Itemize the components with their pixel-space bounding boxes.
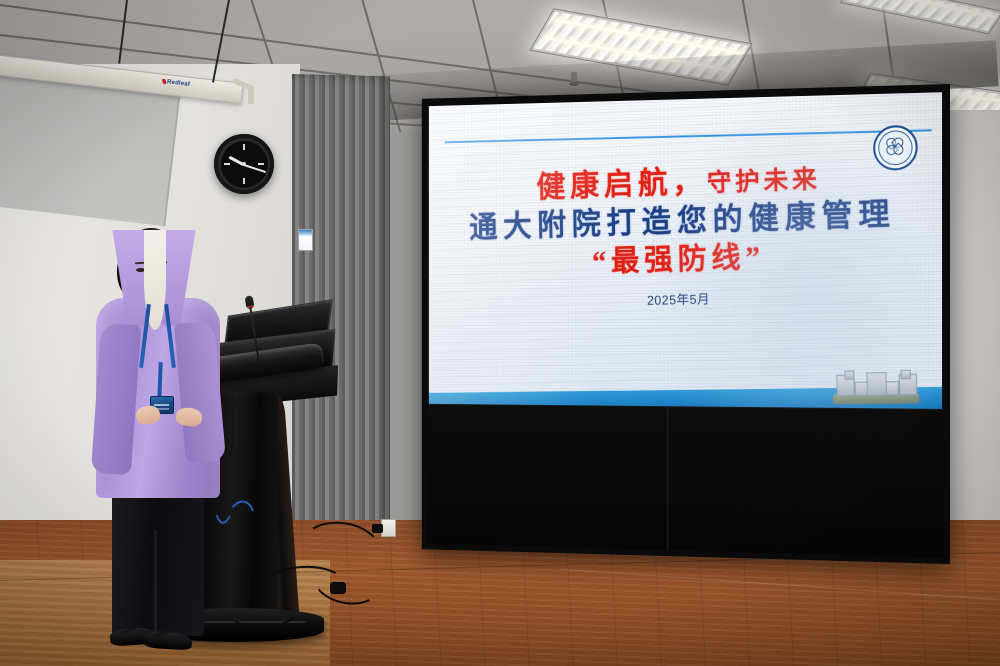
slide-text-block: 健康启航，守护未来 通大附院打造您的健康管理 “最强防线” 2025年5月 [429, 154, 942, 314]
clock-center-pin [242, 162, 246, 166]
led-video-wall[interactable]: 健康启航，守护未来 通大附院打造您的健康管理 “最强防线” 2025年5月 [422, 84, 950, 564]
clock-mark-9 [224, 163, 230, 165]
cable-adapter [330, 582, 346, 594]
wall-clock [214, 134, 274, 194]
clock-mark-6 [243, 178, 245, 184]
projector-brand-label: Redleaf [162, 79, 191, 88]
redleaf-icon [162, 79, 167, 84]
power-plug [372, 524, 383, 533]
hospital-building-photo [832, 364, 919, 404]
presenter [92, 228, 242, 666]
trousers [112, 476, 204, 636]
ceiling-light-3 [840, 0, 1000, 34]
conference-room-photo: Redleaf [0, 0, 1000, 666]
headline-part-2: 守护未来 [707, 166, 821, 197]
wall-sign [298, 229, 313, 251]
casing-bracket [248, 86, 254, 104]
wall-power-outlet[interactable] [381, 519, 396, 537]
emblem-petals-icon [886, 137, 904, 155]
clock-mark-12 [243, 144, 245, 150]
presentation-screen[interactable]: 健康启航，守护未来 通大附院打造您的健康管理 “最强防线” 2025年5月 [429, 92, 942, 410]
headline-part-1: 健康启航， [536, 163, 707, 204]
slide-date: 2025年5月 [429, 283, 942, 314]
slide-accent-line [444, 130, 931, 144]
slide-content: 健康启航，守护未来 通大附院打造您的健康管理 “最强防线” 2025年5月 [429, 92, 942, 410]
clock-mark-3 [258, 163, 264, 165]
led-wall-lower-panels [427, 404, 944, 558]
